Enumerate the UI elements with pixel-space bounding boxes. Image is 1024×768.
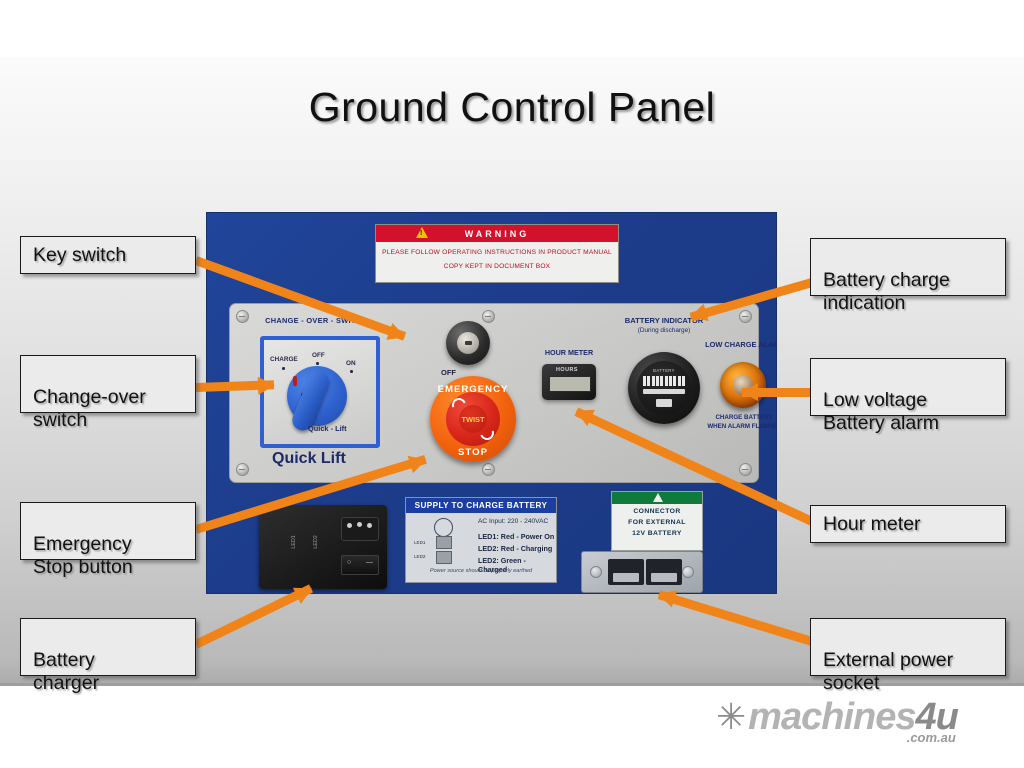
callout-change-over-switch[interactable]: Change-over switch [20, 355, 196, 413]
supply-to-charge-battery-label: SUPPLY TO CHARGE BATTERY AC Input: 220 -… [405, 497, 557, 583]
plate-screw-bottom-center [482, 463, 495, 476]
callout-battery-charge-indication[interactable]: Battery charge indication [810, 238, 1006, 296]
plate-screw-bottom-left [236, 463, 249, 476]
star-burst-icon: ✳ [716, 702, 746, 732]
socket-port-right[interactable] [646, 559, 682, 585]
change-over-position-on: ON [346, 360, 356, 367]
plate-screw-top-center [482, 310, 495, 323]
emergency-stop-core[interactable]: TWIST [459, 405, 487, 433]
change-over-position-off: OFF [312, 352, 325, 359]
low-charge-alarm-heading: LOW CHARGE ALARM [690, 340, 777, 349]
change-over-tick-off [316, 362, 319, 365]
supply-icon-1 [436, 536, 452, 549]
supply-label-footer: Power source should be properly earthed [412, 568, 550, 574]
iec-power-inlet[interactable] [341, 517, 379, 541]
control-panel-photo: WARNING PLEASE FOLLOW OPERATING INSTRUCT… [206, 212, 777, 594]
change-over-switch[interactable]: CHARGE OFF ON Quick - Lift [260, 336, 380, 448]
twist-label: TWIST [462, 415, 485, 424]
battery-charger-unit[interactable]: ○— LED1 LED2 [259, 505, 387, 589]
arrow-to-change-over-switch [196, 380, 274, 392]
plate-screw-bottom-right [739, 463, 752, 476]
battery-indicator-scale [643, 389, 685, 394]
callout-emergency-stop[interactable]: Emergency Stop button [20, 502, 196, 560]
supply-line-2: LED2: Red - Charging [478, 544, 552, 553]
battery-indicator-subheading: (During discharge) [612, 327, 716, 334]
low-charge-alarm-note-1: CHARGE BATTERY [694, 414, 777, 421]
hour-meter-lcd [549, 376, 591, 392]
charger-led1-label: LED1 [291, 535, 297, 549]
key-barrel[interactable] [457, 332, 479, 354]
connector-label-header-bar [612, 492, 702, 504]
hour-meter-display-label: HOURS [556, 367, 578, 373]
connector-label-line-1: CONNECTOR [612, 508, 702, 515]
callout-battery-charger-label: Battery charger [33, 649, 99, 694]
page-title: Ground Control Panel [0, 84, 1024, 131]
warning-header-text: WARNING [465, 229, 530, 239]
emergency-stop-mushroom[interactable]: TWIST [446, 392, 500, 446]
supply-led1-tag: LED1 [414, 540, 426, 545]
battery-indicator-face: BATTERY [637, 361, 691, 415]
callout-key-switch[interactable]: Key switch [20, 236, 196, 274]
key-slot-icon [465, 341, 472, 345]
emergency-stop-button[interactable]: EMERGENCY STOP TWIST [430, 376, 516, 462]
warning-header-bar: WARNING [376, 225, 618, 242]
warning-label: WARNING PLEASE FOLLOW OPERATING INSTRUCT… [375, 224, 619, 283]
socket-screw-left [590, 566, 602, 578]
arrow-to-low-voltage-alarm [742, 388, 812, 397]
plug-icon [434, 518, 453, 537]
top-white-band [0, 0, 1024, 57]
slide-canvas: Ground Control Panel WARNING PLEASE FOLL… [0, 0, 1024, 768]
charger-power-rocker-switch[interactable]: ○— [341, 555, 379, 575]
key-switch[interactable] [446, 321, 490, 365]
callout-hour-meter[interactable]: Hour meter [810, 505, 1006, 543]
callout-emergency-stop-label: Emergency Stop button [33, 533, 133, 578]
quick-lift-brand: Quick Lift [272, 450, 346, 468]
supply-icon-2 [436, 551, 452, 564]
change-over-pointer-mark [293, 376, 297, 386]
battery-indicator-bar-segments [643, 376, 685, 386]
warning-triangle-icon [416, 227, 428, 238]
callout-battery-charger[interactable]: Battery charger [20, 618, 196, 676]
supply-led2-tag: LED2 [414, 554, 426, 559]
charger-led2-label: LED2 [313, 535, 319, 549]
battery-symbol-icon [656, 399, 672, 407]
callout-key-switch-label: Key switch [33, 244, 126, 266]
callout-low-voltage-battery-alarm-label: Low voltage Battery alarm [823, 389, 939, 434]
connector-warning-triangle-icon [653, 493, 663, 502]
change-over-tick-charge [282, 367, 285, 370]
socket-port-left[interactable] [608, 559, 644, 585]
emergency-stop-bottom-text: STOP [430, 447, 516, 458]
low-charge-alarm-note-2: WHEN ALARM FLASHES [694, 423, 777, 430]
callout-external-power-socket[interactable]: External power socket [810, 618, 1006, 676]
warning-line-2: COPY KEPT IN DOCUMENT BOX [376, 263, 618, 270]
change-over-inner-label: Quick - Lift [308, 424, 347, 433]
hour-meter-heading: HOUR METER [526, 348, 612, 357]
connector-label-line-2: FOR EXTERNAL [612, 519, 702, 526]
supply-label-header: SUPPLY TO CHARGE BATTERY [406, 498, 556, 513]
watermark-name-light: machines [748, 696, 915, 738]
plate-screw-top-right [739, 310, 752, 323]
supply-line-1: LED1: Red - Power On [478, 532, 554, 541]
supply-label-header-text: SUPPLY TO CHARGE BATTERY [415, 501, 548, 510]
hour-meter[interactable]: HOURS [542, 364, 596, 400]
callout-low-voltage-battery-alarm[interactable]: Low voltage Battery alarm [810, 358, 1006, 416]
connector-label-line-3: 12V BATTERY [612, 530, 702, 537]
change-over-tick-on [350, 370, 353, 373]
external-power-socket[interactable] [581, 551, 703, 593]
socket-screw-right [682, 566, 694, 578]
watermark-domain: .com.au [907, 730, 956, 745]
battery-charge-indicator-gauge: BATTERY [628, 352, 700, 424]
key-switch-off-label: OFF [441, 368, 456, 377]
external-connector-label: CONNECTOR FOR EXTERNAL 12V BATTERY [611, 491, 703, 551]
callout-hour-meter-label: Hour meter [823, 513, 921, 535]
battery-indicator-face-label: BATTERY [637, 368, 691, 373]
machines4u-watermark: ✳ machines4u .com.au [716, 700, 958, 734]
supply-ac-input: AC Input: 220 - 240VAC [478, 518, 548, 525]
change-over-position-charge: CHARGE [270, 356, 298, 363]
warning-line-1: PLEASE FOLLOW OPERATING INSTRUCTIONS IN … [376, 249, 618, 256]
